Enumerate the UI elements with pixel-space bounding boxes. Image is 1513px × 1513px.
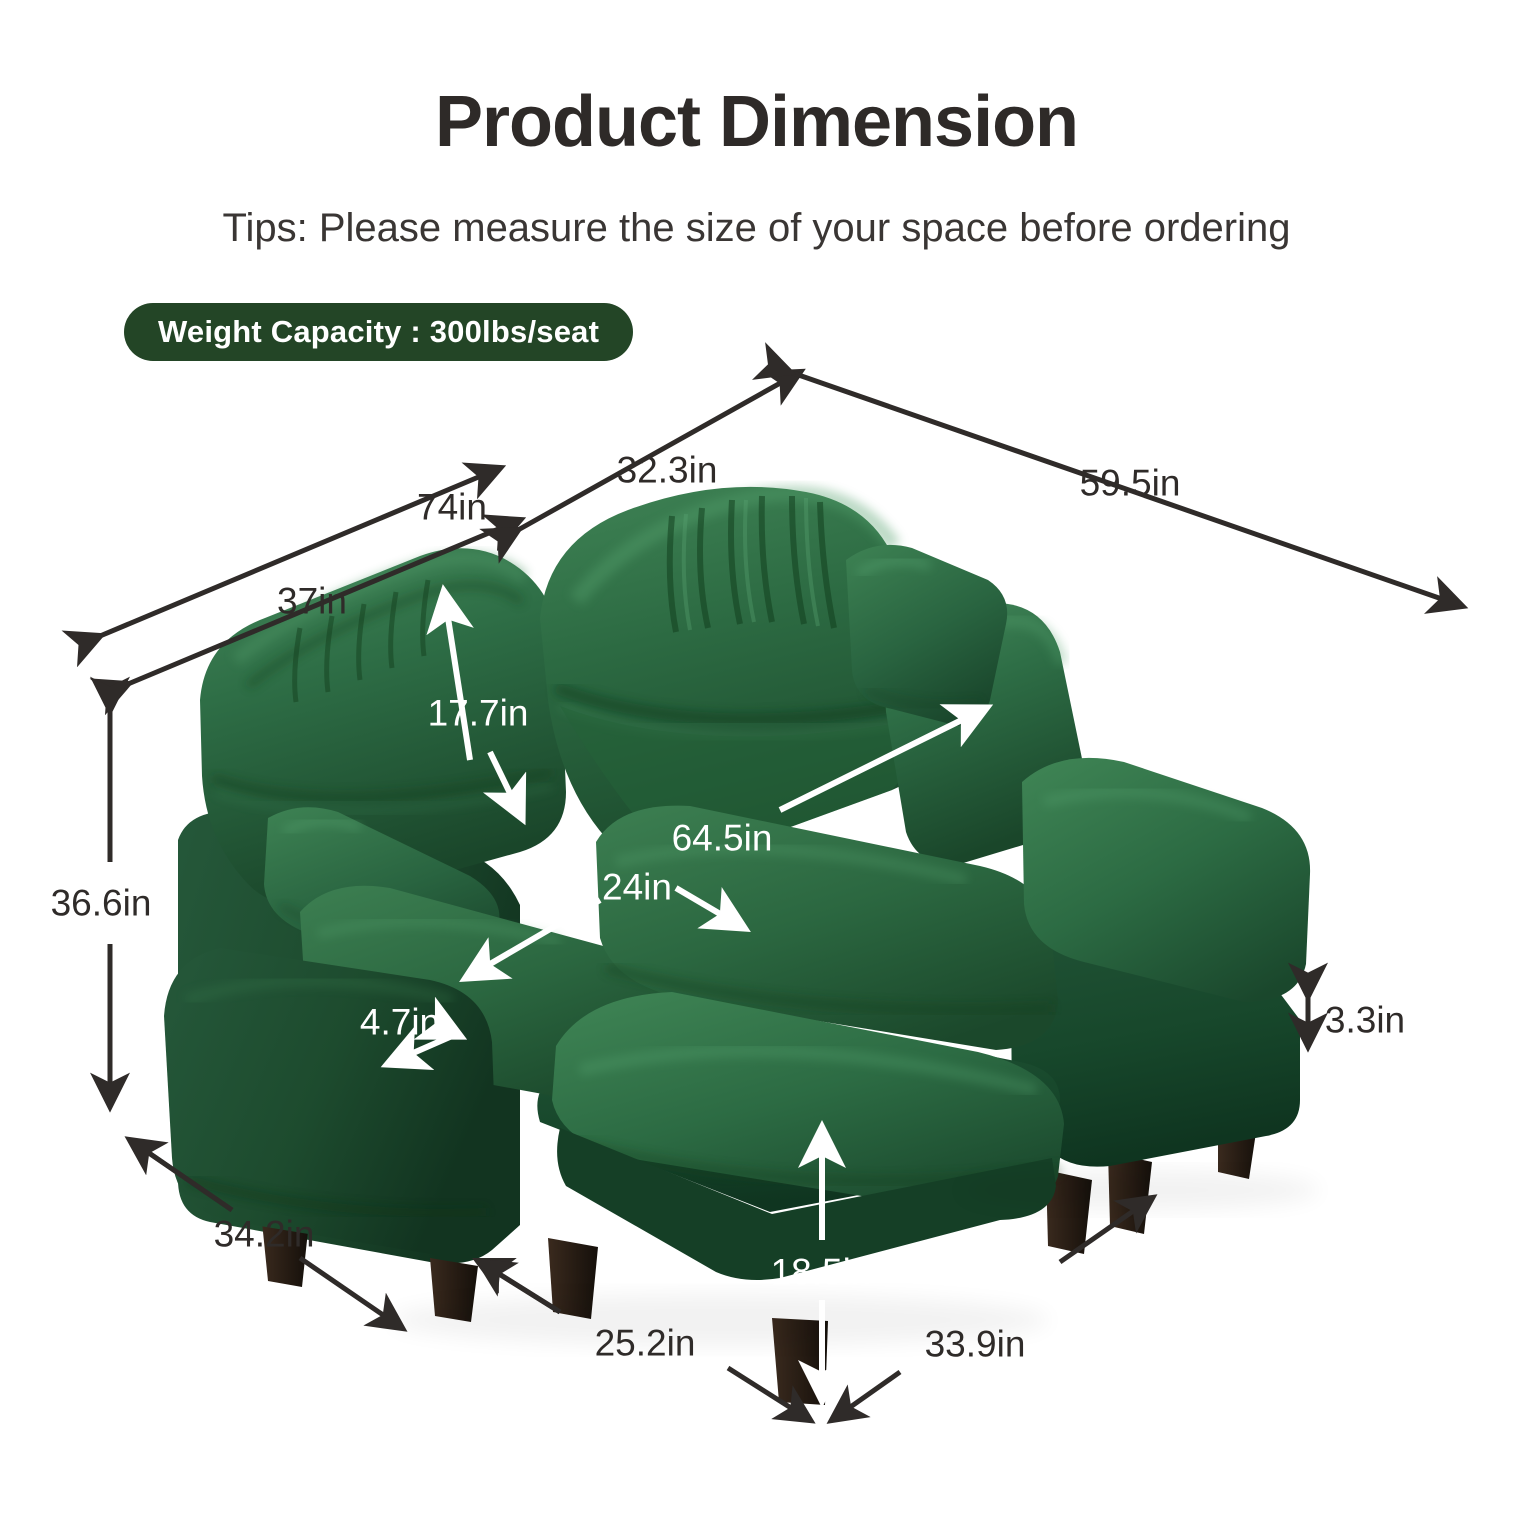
dimline-17_7in [444,592,470,760]
dimline-4_7in [388,1036,452,1064]
dimension-lines [0,0,1513,1513]
dimline-33_9in [1060,1198,1152,1262]
product-dimension-infographic: Product Dimension Tips: Please measure t… [0,0,1513,1513]
dimline-32_3in [518,372,800,530]
dimline-64_5in [780,708,986,810]
dimline-24in [466,900,600,978]
dimline-59_5in [790,372,1462,606]
